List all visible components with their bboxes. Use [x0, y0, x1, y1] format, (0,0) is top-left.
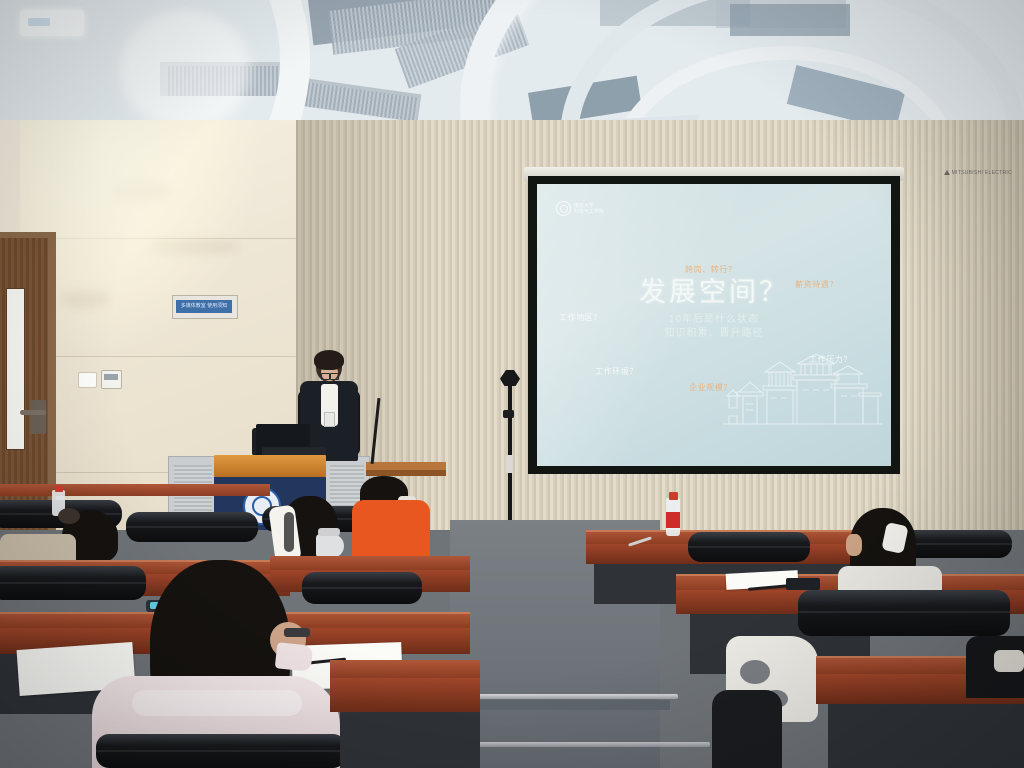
lecture-hall-photo: 多媒体教室 使用须知 MITSUBISHI ELECTRIC 南京大学科技与工学… — [0, 0, 1024, 768]
cove-light — [120, 10, 250, 130]
podium-desktop — [214, 455, 326, 477]
wall-plaque-text: 多媒体教室 使用须知 — [177, 301, 231, 312]
chair-back[interactable] — [126, 512, 258, 542]
desk-legroom — [340, 712, 480, 768]
eyeglasses-icon — [284, 628, 310, 637]
projection-screen[interactable]: 南京大学科技与工学院 发展空间？ 10年后是什么状态 知识积累、晋升路径 跨岗、… — [537, 184, 891, 466]
chair-back[interactable] — [96, 734, 346, 768]
slide-university-logo: 南京大学科技与工学院 — [556, 201, 604, 216]
bottle-label — [666, 512, 680, 528]
hair-accessory-detail — [284, 512, 294, 552]
chair-back[interactable] — [302, 572, 422, 604]
bottle-cap — [55, 486, 63, 492]
desk-top — [330, 660, 480, 678]
presenter-hair — [314, 350, 344, 370]
chair-back[interactable] — [900, 530, 1012, 558]
door-lever-icon[interactable] — [20, 410, 46, 415]
slide-tag-4: 工作环境？ — [595, 366, 638, 377]
bottle-cap — [669, 492, 678, 500]
door-handle[interactable] — [30, 400, 46, 434]
desk-top — [270, 556, 470, 570]
student-hand — [994, 650, 1024, 672]
face-mask-icon — [275, 642, 314, 672]
triangle-logo-icon — [944, 170, 950, 175]
chair-back[interactable] — [798, 590, 1010, 636]
chair-base — [712, 690, 782, 768]
slide-tag-0: 跨岗、转行？ — [685, 264, 737, 275]
student-orange-jacket — [352, 500, 430, 562]
glasses-icon — [321, 373, 330, 380]
ceiling-light-lens — [28, 18, 50, 26]
mic-stand-adjuster[interactable] — [503, 410, 514, 418]
chair-back[interactable] — [688, 532, 810, 562]
door-window — [6, 288, 25, 450]
desk-edge — [0, 560, 290, 562]
slide-tag-2: 工作地区？ — [559, 312, 602, 323]
aisle-step — [450, 700, 670, 710]
desk-legroom — [828, 704, 1024, 768]
coat-pattern — [740, 660, 770, 684]
projector-brand-mark: MITSUBISHI ELECTRIC — [944, 170, 1012, 176]
mic-cable-wrap — [506, 455, 513, 473]
student-face — [846, 534, 862, 556]
slide-logo-text: 南京大学科技与工学院 — [574, 203, 604, 215]
glasses-icon — [330, 373, 339, 380]
light-switch[interactable] — [78, 372, 97, 388]
campus-building-drawing-icon — [723, 346, 883, 432]
side-table-edge — [366, 470, 446, 476]
slide-tag-1: 薪资待遇？ — [795, 279, 838, 290]
thermostat-panel[interactable] — [101, 370, 122, 389]
presenter-id-badge — [324, 412, 335, 427]
desk-front — [330, 678, 480, 712]
desk-top — [0, 484, 270, 496]
floor-cable-cover — [448, 694, 678, 699]
slide-subtitle-2: 知识积累、晋升路径 — [537, 324, 891, 339]
university-emblem-icon — [556, 201, 571, 216]
phone-device[interactable] — [786, 578, 820, 590]
eyeglasses-icon — [318, 528, 340, 536]
face-mask-icon[interactable] — [316, 534, 344, 558]
coat-highlight — [132, 690, 302, 716]
chair-back[interactable] — [0, 566, 146, 600]
hair-bun — [58, 508, 80, 524]
